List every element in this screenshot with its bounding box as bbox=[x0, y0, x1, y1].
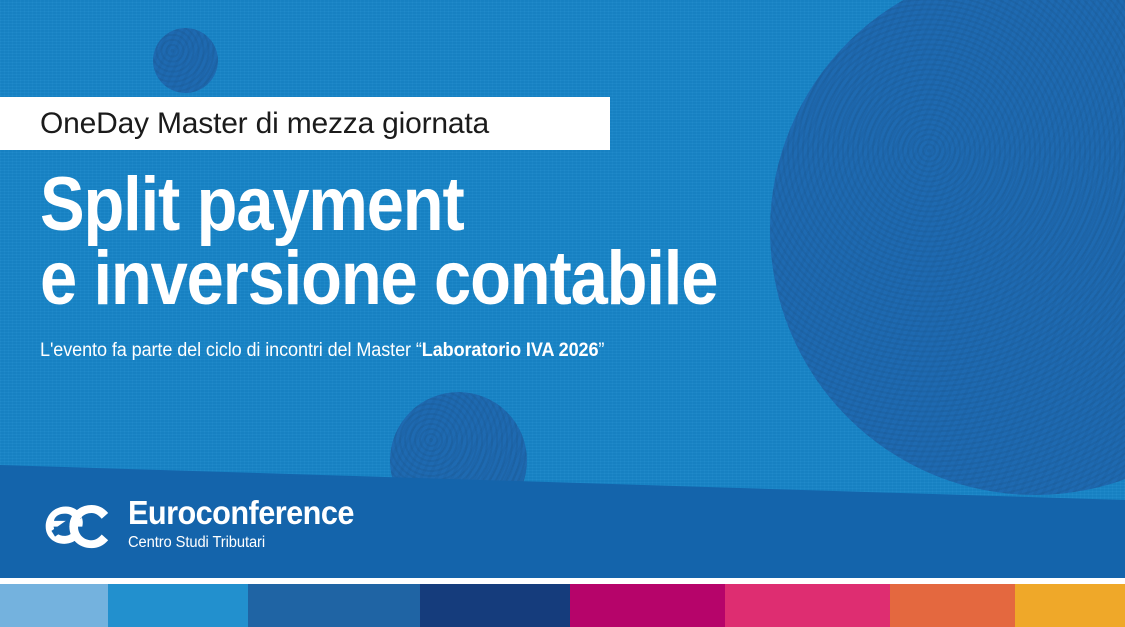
page-title-line-1: Split payment bbox=[40, 168, 717, 242]
ec-monogram-icon bbox=[42, 495, 114, 551]
brand-color-bar bbox=[0, 584, 1125, 627]
decorative-circle-top bbox=[153, 28, 218, 93]
subtitle-suffix: ” bbox=[598, 340, 604, 361]
color-bar-block-bright-blue bbox=[108, 584, 248, 627]
color-bar-block-magenta bbox=[570, 584, 725, 627]
page-title-line-2: e inversione contabile bbox=[40, 242, 717, 316]
color-bar-block-pink bbox=[725, 584, 890, 627]
eyebrow-label: OneDay Master di mezza giornata bbox=[0, 97, 610, 150]
subtitle-prefix: L'evento fa parte del ciclo di incontri … bbox=[40, 340, 422, 361]
color-bar-block-light-blue bbox=[0, 584, 108, 627]
logo-wordmark: Euroconference Centro Studi Tributari bbox=[128, 496, 371, 551]
euroconference-logo: Euroconference Centro Studi Tributari bbox=[42, 495, 371, 551]
subtitle-highlight: Laboratorio IVA 2026 bbox=[422, 340, 599, 361]
color-bar-block-navy-blue bbox=[420, 584, 570, 627]
logo-title: Euroconference bbox=[128, 496, 354, 529]
logo-subtitle: Centro Studi Tributari bbox=[128, 535, 359, 551]
color-bar-block-yellow bbox=[1015, 584, 1125, 627]
event-banner: OneDay Master di mezza giornata Split pa… bbox=[0, 0, 1125, 627]
page-title: Split payment e inversione contabile bbox=[40, 168, 717, 317]
color-bar-block-orange bbox=[890, 584, 1015, 627]
color-bar-block-medium-blue bbox=[248, 584, 420, 627]
subtitle: L'evento fa parte del ciclo di incontri … bbox=[40, 340, 604, 363]
eyebrow-label-text: OneDay Master di mezza giornata bbox=[0, 109, 489, 139]
decorative-circle-large bbox=[770, 0, 1125, 495]
